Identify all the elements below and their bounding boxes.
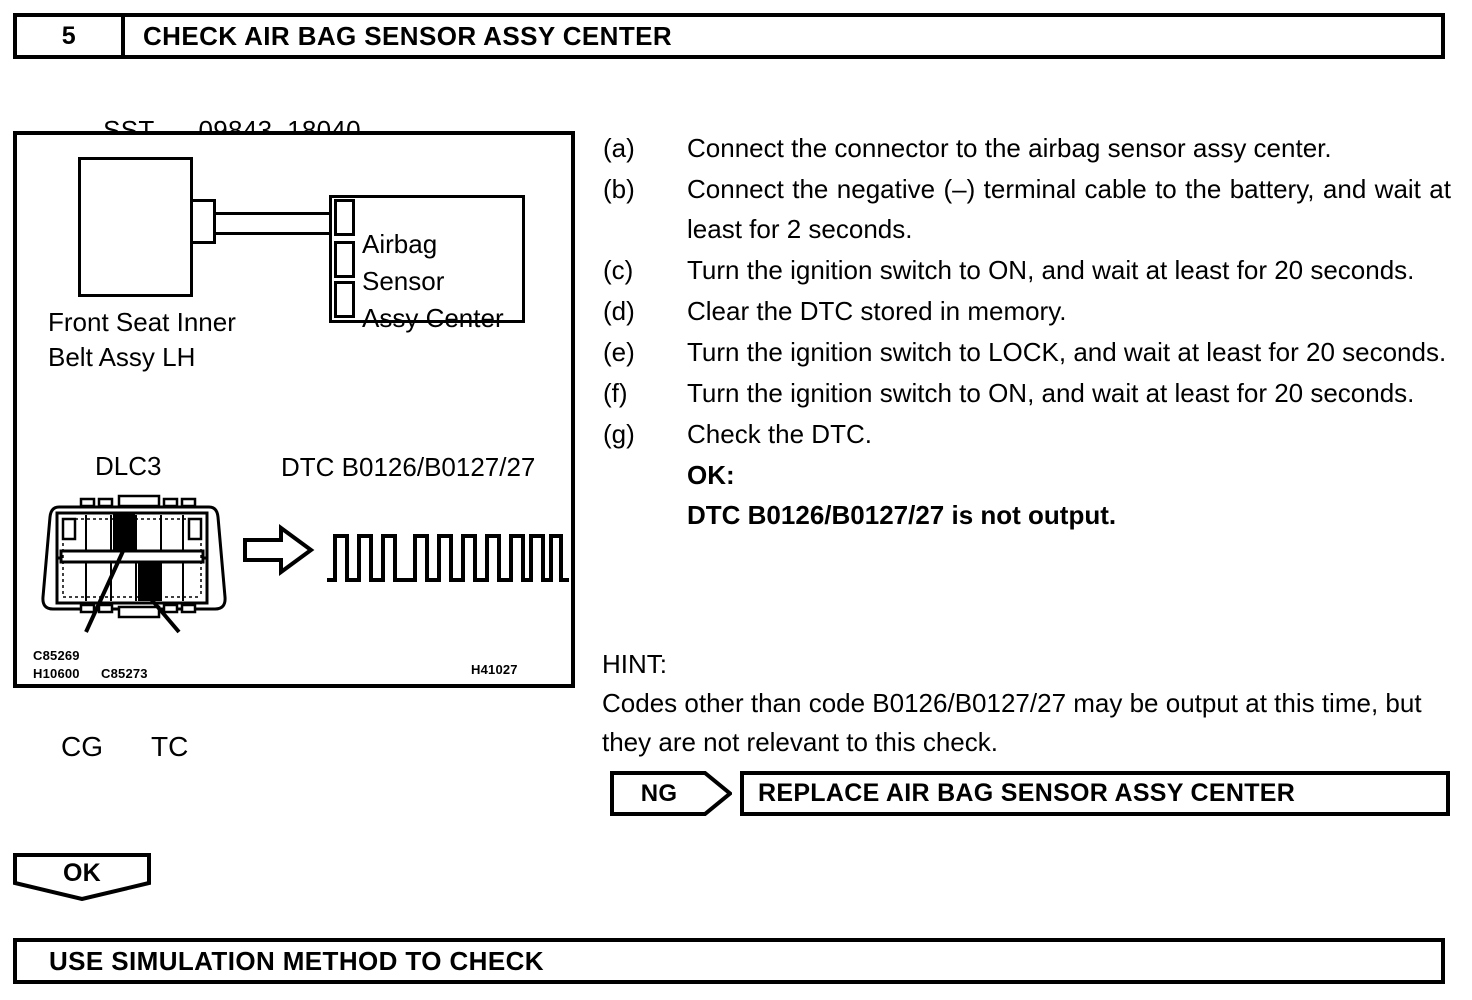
airbag-sensor-label: Airbag Sensor Assy Center: [362, 226, 504, 337]
ok-result-condition: DTC B0126/B0127/27 is not output.: [687, 495, 1451, 535]
step-text: Check the DTC.: [687, 414, 1451, 454]
step-text: Connect the connector to the airbag sens…: [687, 128, 1451, 168]
pin-label-cg: CG: [61, 731, 103, 763]
ok-action-bar: USE SIMULATION METHOD TO CHECK: [13, 938, 1445, 984]
procedure-step-b: (b) Connect the negative (–) terminal ca…: [603, 169, 1451, 249]
procedure-list: (a) Connect the connector to the airbag …: [603, 128, 1451, 535]
step-number: 5: [62, 22, 76, 51]
sensor-pin-2: [334, 241, 355, 278]
sensor-pin-1: [334, 199, 355, 236]
step-marker: (g): [603, 414, 687, 454]
figure-code-h10600: H10600: [33, 666, 80, 681]
step-text: Turn the ignition switch to ON, and wait…: [687, 250, 1451, 290]
procedure-step-e: (e) Turn the ignition switch to LOCK, an…: [603, 332, 1451, 372]
step-marker: (e): [603, 332, 687, 372]
ng-tag-label: NG: [641, 780, 702, 808]
step-text: Connect the negative (–) terminal cable …: [687, 169, 1451, 249]
procedure-step-c: (c) Turn the ignition switch to ON, and …: [603, 250, 1451, 290]
ng-action-box: REPLACE AIR BAG SENSOR ASSY CENTER: [740, 771, 1450, 816]
figure-box: Front Seat Inner Belt Assy LH Airbag Sen…: [13, 131, 575, 688]
front-seat-inner-belt-block: [78, 157, 193, 297]
hint-title: HINT:: [602, 645, 1454, 684]
figure-code-c85273: C85273: [101, 666, 148, 681]
pin-label-tc: TC: [151, 731, 188, 763]
belt-assy-label: Front Seat Inner Belt Assy LH: [48, 305, 236, 375]
step-title-cell: CHECK AIR BAG SENSOR ASSY CENTER: [125, 17, 1441, 55]
wire-harness: [214, 212, 334, 235]
procedure-step-a: (a) Connect the connector to the airbag …: [603, 128, 1451, 168]
ok-tag-label: OK: [13, 859, 151, 888]
dtc-code-label: DTC B0126/B0127/27: [281, 452, 535, 483]
step-marker: (d): [603, 291, 687, 331]
hint-body: Codes other than code B0126/B0127/27 may…: [602, 684, 1454, 762]
procedure-step-g: (g) Check the DTC.: [603, 414, 1451, 454]
step-title: CHECK AIR BAG SENSOR ASSY CENTER: [143, 21, 672, 52]
step-marker: (f): [603, 373, 687, 413]
figure-code-h41027: H41027: [471, 662, 518, 677]
dlc3-connector-icon: [33, 487, 243, 737]
step-marker: (b): [603, 169, 687, 209]
step-text: Turn the ignition switch to ON, and wait…: [687, 373, 1451, 413]
step-number-cell: 5: [17, 17, 125, 55]
dlc3-label: DLC3: [95, 451, 161, 482]
terminal-cg-highlight: [113, 514, 135, 551]
step-marker: (c): [603, 250, 687, 290]
procedure-step-d: (d) Clear the DTC stored in memory.: [603, 291, 1451, 331]
ng-tag: NG: [610, 771, 732, 816]
step-marker: (a): [603, 128, 687, 168]
ng-action-label: REPLACE AIR BAG SENSOR ASSY CENTER: [758, 779, 1295, 808]
sensor-pin-3: [334, 281, 355, 318]
figure-code-c85269: C85269: [33, 648, 80, 663]
step-text: Clear the DTC stored in memory.: [687, 291, 1451, 331]
hint-block: HINT: Codes other than code B0126/B0127/…: [602, 645, 1454, 762]
step-header-bar: 5 CHECK AIR BAG SENSOR ASSY CENTER: [13, 13, 1445, 59]
ok-action-label: USE SIMULATION METHOD TO CHECK: [49, 946, 544, 977]
ng-branch-row: NG REPLACE AIR BAG SENSOR ASSY CENTER: [610, 771, 1450, 816]
arrow-right-icon: [245, 528, 311, 572]
ok-tag: OK: [13, 853, 151, 901]
belt-connector-nub: [190, 199, 216, 244]
dtc-output-waveform: [239, 510, 569, 600]
procedure-step-f: (f) Turn the ignition switch to ON, and …: [603, 373, 1451, 413]
ok-result-label: OK:: [687, 455, 1451, 495]
terminal-tc-highlight: [138, 563, 160, 601]
step-text: Turn the ignition switch to LOCK, and wa…: [687, 332, 1451, 372]
